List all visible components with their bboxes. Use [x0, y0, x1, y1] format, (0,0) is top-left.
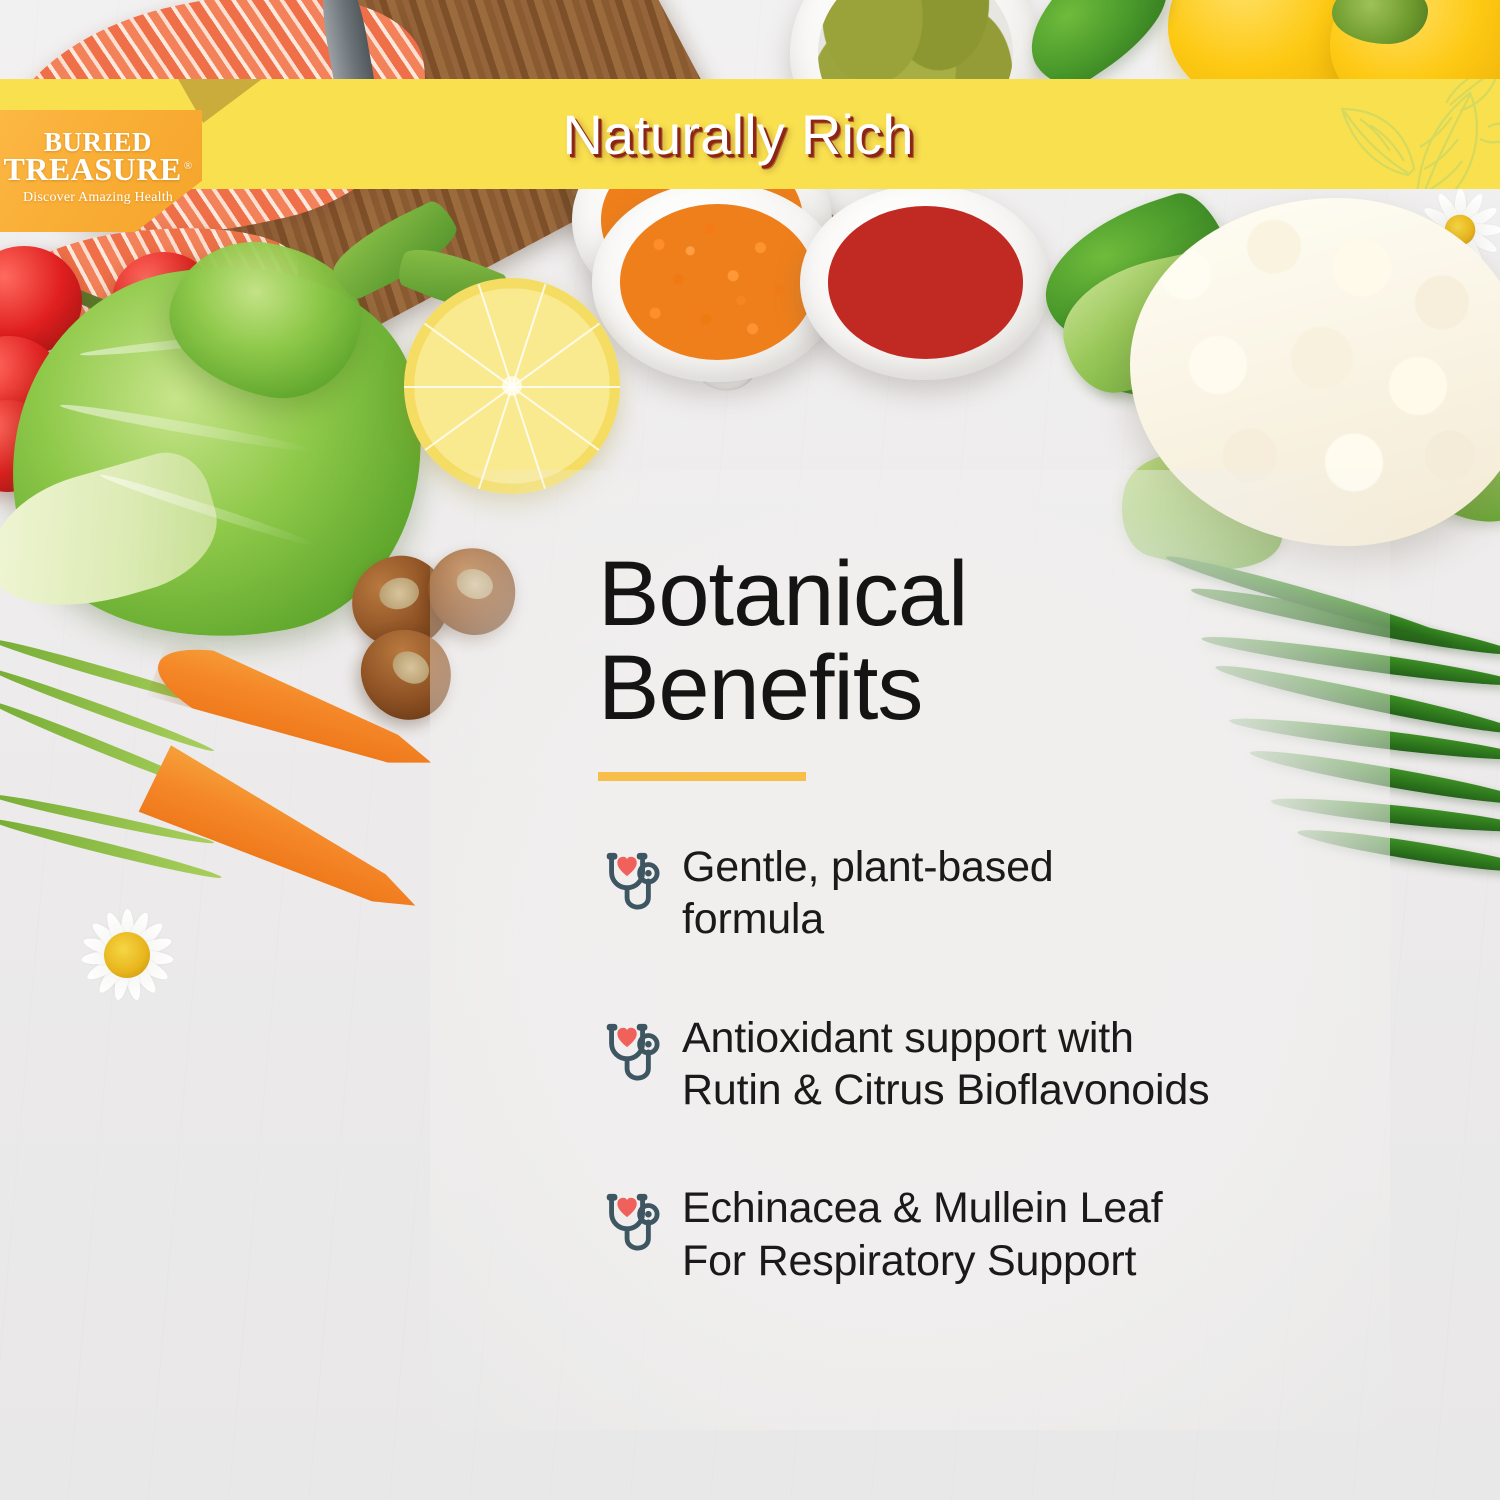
logo-treasure-text: TREASURE [3, 151, 181, 187]
list-item: Echinacea & Mullein Leaf For Respiratory… [598, 1182, 1318, 1287]
banner-title: Naturally Rich [562, 102, 913, 167]
benefit-2-line-2: Rutin & Citrus Bioflavonoids [682, 1066, 1209, 1114]
benefit-text: Gentle, plant-based formula [682, 841, 1054, 946]
logo-line-treasure: TREASURE® [3, 155, 192, 184]
accent-rule [598, 772, 806, 781]
benefit-3-line-1: Echinacea & Mullein Leaf [682, 1184, 1162, 1232]
product-infographic: Naturally Rich BURIED TREASURE® Discover… [0, 0, 1500, 1500]
registered-trademark-icon: ® [184, 160, 193, 172]
lemon-half [404, 278, 620, 494]
benefits-list: Gentle, plant-based formula [598, 841, 1318, 1288]
goji-berries-bowl [800, 185, 1050, 380]
brand-tagline: Discover Amazing Health [23, 190, 173, 206]
page-title: Botanical Benefits [598, 548, 1318, 736]
stethoscope-heart-icon [598, 1020, 660, 1082]
list-item: Gentle, plant-based formula [598, 841, 1318, 946]
headline-line-2: Benefits [598, 637, 922, 739]
leaf-outline-icon [1320, 79, 1500, 189]
content-block: Botanical Benefits [598, 548, 1318, 1287]
benefit-1-line-2: formula [682, 895, 824, 943]
daisy-flower [62, 890, 192, 1020]
benefit-1-line-1: Gentle, plant-based [682, 843, 1054, 891]
stethoscope-heart-icon [598, 849, 660, 911]
benefit-2-line-1: Antioxidant support with [682, 1014, 1134, 1062]
list-item: Antioxidant support with Rutin & Citrus … [598, 1012, 1318, 1117]
benefit-text: Echinacea & Mullein Leaf For Respiratory… [682, 1182, 1162, 1287]
stethoscope-heart-icon [598, 1190, 660, 1252]
daisy-center [104, 932, 150, 978]
headline-line-1: Botanical [598, 543, 967, 645]
benefit-text: Antioxidant support with Rutin & Citrus … [682, 1012, 1209, 1117]
red-lentils-content-lower [620, 204, 815, 360]
goji-berries-content [828, 206, 1023, 358]
benefit-3-line-2: For Respiratory Support [682, 1237, 1136, 1285]
